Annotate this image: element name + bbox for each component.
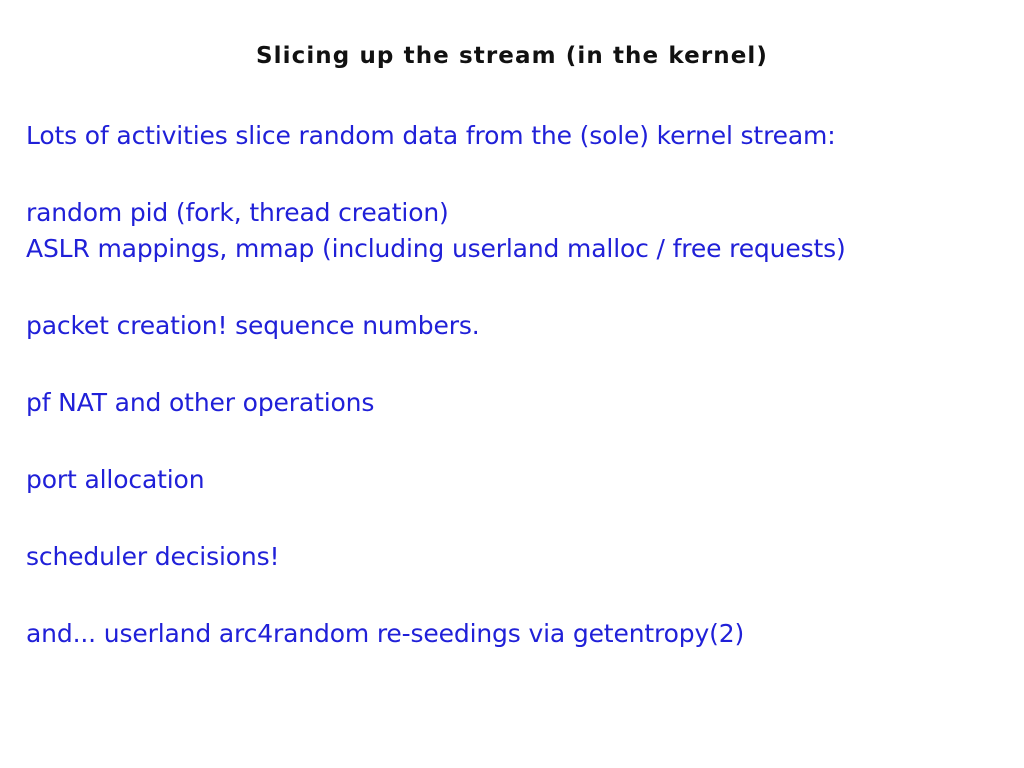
body-paragraph-packet-creation: packet creation! sequence numbers. [26, 308, 986, 344]
body-line: packet creation! sequence numbers. [26, 308, 986, 344]
body-line: pf NAT and other operations [26, 385, 986, 421]
body-line: and... userland arc4random re-seedings v… [26, 616, 986, 652]
body-line: ASLR mappings, mmap (including userland … [26, 231, 986, 267]
presentation-slide: Slicing up the stream (in the kernel) Lo… [0, 0, 1024, 768]
body-line: scheduler decisions! [26, 539, 986, 575]
body-line: random pid (fork, thread creation) [26, 195, 986, 231]
slide-title: Slicing up the stream (in the kernel) [0, 41, 1024, 71]
body-paragraph-scheduler: scheduler decisions! [26, 539, 986, 575]
slide-body: Lots of activities slice random data fro… [26, 118, 986, 652]
body-paragraph-pf-nat: pf NAT and other operations [26, 385, 986, 421]
body-line: port allocation [26, 462, 986, 498]
body-line: Lots of activities slice random data fro… [26, 118, 986, 154]
body-paragraph-intro: Lots of activities slice random data fro… [26, 118, 986, 154]
body-paragraph-pid-and-aslr: random pid (fork, thread creation)ASLR m… [26, 195, 986, 267]
body-paragraph-port-allocation: port allocation [26, 462, 986, 498]
body-paragraph-userland-arc4random: and... userland arc4random re-seedings v… [26, 616, 986, 652]
